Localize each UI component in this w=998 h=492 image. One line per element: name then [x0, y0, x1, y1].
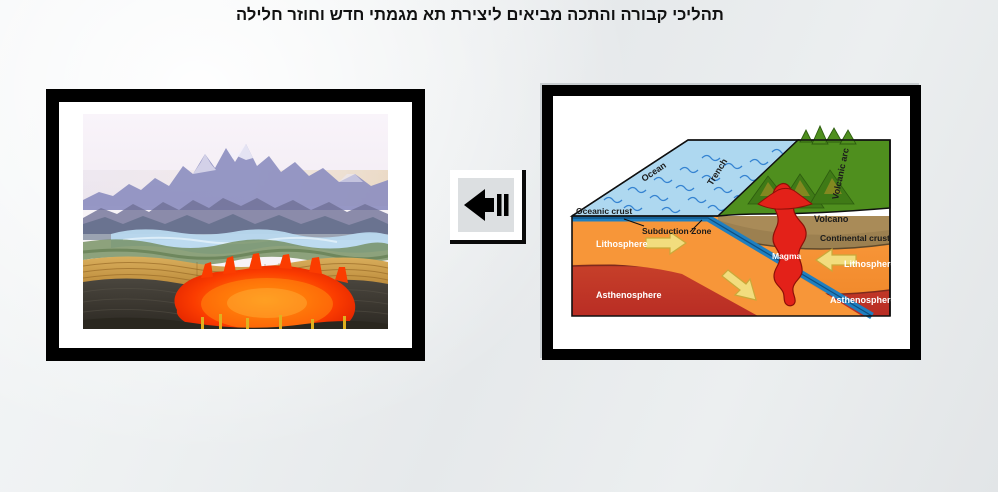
label-subduction-zone: Subduction Zone	[642, 226, 712, 236]
subduction-zone-diagram-frame[interactable]: Ocean Trench Volcanic arc Volcano Oceani…	[542, 85, 921, 360]
label-magma: Magma	[772, 251, 802, 261]
label-lithosphere-right: Lithosphere	[844, 259, 896, 269]
label-asthenosphere-right: Asthenosphere	[830, 295, 896, 305]
label-asthenosphere-left: Asthenosphere	[596, 290, 662, 300]
left-arrow-with-bars-icon[interactable]	[458, 178, 514, 232]
label-lithosphere-left: Lithosphere	[596, 239, 648, 249]
back-arrow-button[interactable]	[450, 170, 526, 244]
slide-canvas: תהליכי קבורה והתכה מביאים ליצירת תא מגמת…	[0, 0, 998, 492]
photo-mat-right: Ocean Trench Volcanic arc Volcano Oceani…	[553, 96, 910, 349]
subduction-zone-block-diagram: Ocean Trench Volcanic arc Volcano Oceani…	[562, 104, 900, 342]
photo-mat-left	[59, 102, 412, 348]
magma-chamber-photo-frame[interactable]	[46, 89, 425, 361]
magma-chamber-cross-section-painting	[83, 114, 388, 329]
page-title: תהליכי קבורה והתכה מביאים ליצירת תא מגמת…	[0, 6, 998, 25]
label-volcano: Volcano	[814, 214, 849, 224]
label-oceanic-crust: Oceanic crust	[576, 206, 632, 216]
label-continental-crust: Continental crust	[820, 233, 890, 243]
